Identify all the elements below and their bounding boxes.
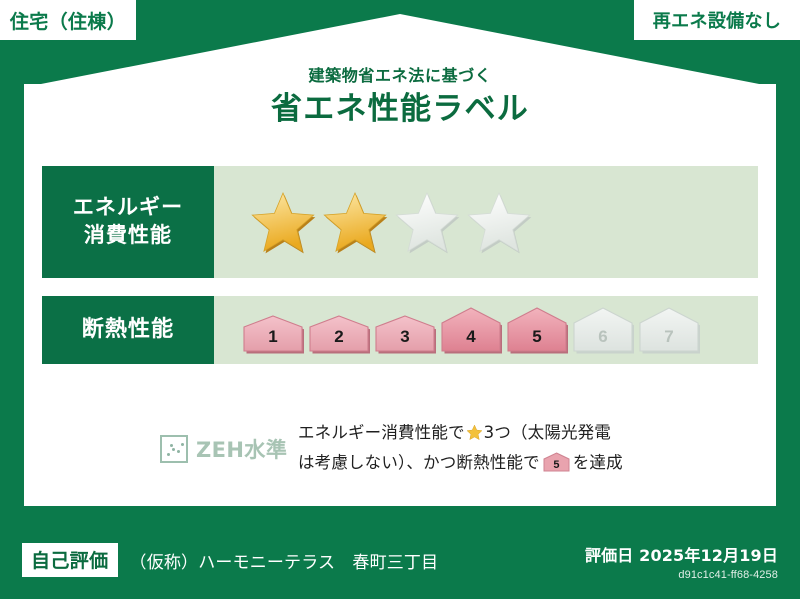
grade-scale: 1234567	[242, 306, 700, 354]
star-filled-icon	[322, 190, 388, 254]
grade-badge-6: 6	[572, 306, 634, 354]
star-empty-icon	[394, 190, 460, 254]
building-name: （仮称）ハーモニーテラス 春町三丁目	[130, 548, 439, 573]
grade-badge-4: 4	[440, 306, 502, 354]
zeh-mark: ZEH水準	[160, 420, 288, 464]
grade-value: 5	[506, 327, 568, 347]
energy-consumption-value	[214, 166, 758, 278]
zeh-desc-part2: は考慮しない）、かつ断熱性能で	[298, 453, 540, 472]
grade-badge-5: 5	[506, 306, 568, 354]
zeh-dots-icon	[160, 435, 188, 463]
zeh-desc-star-count: 3つ（太陽光発電	[484, 423, 611, 442]
grade-value: 2	[308, 327, 370, 347]
title-block: 建築物省エネ法に基づく 省エネ性能ラベル	[0, 66, 800, 128]
grade-value: 4	[440, 327, 502, 347]
title-subtitle: 建築物省エネ法に基づく	[0, 66, 800, 87]
grade-badge-3: 3	[374, 314, 436, 354]
grade-value: 1	[242, 327, 304, 347]
grade-value: 7	[638, 327, 700, 347]
footer: 自己評価 （仮称）ハーモニーテラス 春町三丁目 評価日 2025年12月19日 …	[0, 506, 800, 599]
evaluation-date: 評価日 2025年12月19日	[585, 542, 778, 566]
energy-consumption-row: エネルギー 消費性能	[42, 166, 758, 278]
energy-label-line2: 消費性能	[84, 222, 172, 250]
inline-grade-badge: 5	[543, 452, 570, 481]
evaluation-id: d91c1c41-ff68-4258	[585, 569, 778, 581]
evaluation-type-badge: 自己評価	[22, 543, 118, 577]
grade-value: 3	[374, 327, 436, 347]
footer-right: 評価日 2025年12月19日 d91c1c41-ff68-4258	[585, 542, 778, 581]
insulation-performance-value: 1234567	[214, 296, 758, 364]
star-filled-icon	[250, 190, 316, 254]
grade-value: 6	[572, 327, 634, 347]
star-empty-icon	[466, 190, 532, 254]
inline-star-icon	[466, 423, 483, 450]
zeh-desc-part1: エネルギー消費性能で	[298, 423, 465, 442]
badge-renewable-energy: 再エネ設備なし	[634, 0, 800, 40]
grade-badge-7: 7	[638, 306, 700, 354]
zeh-section: ZEH水準 エネルギー消費性能で3つ（太陽光発電 は考慮しない）、かつ断熱性能で…	[160, 420, 720, 480]
energy-performance-label: 住宅（住棟） 再エネ設備なし 建築物省エネ法に基づく 省エネ性能ラベル エネルギ…	[0, 0, 800, 599]
page-title: 省エネ性能ラベル	[0, 91, 800, 128]
svg-text:5: 5	[553, 459, 559, 471]
energy-consumption-label: エネルギー 消費性能	[42, 166, 214, 278]
insulation-performance-row: 断熱性能 1234567	[42, 296, 758, 364]
insulation-performance-label: 断熱性能	[42, 296, 214, 364]
zeh-desc-part3: を達成	[573, 453, 623, 472]
badge-building-type: 住宅（住棟）	[0, 0, 136, 40]
zeh-label: ZEH水準	[196, 434, 287, 464]
star-rating	[250, 190, 532, 254]
zeh-description: エネルギー消費性能で3つ（太陽光発電 は考慮しない）、かつ断熱性能で5を達成	[288, 420, 720, 480]
energy-label-line1: エネルギー	[73, 194, 183, 222]
footer-left: 自己評価 （仮称）ハーモニーテラス 春町三丁目	[22, 543, 438, 577]
grade-badge-2: 2	[308, 314, 370, 354]
grade-badge-1: 1	[242, 314, 304, 354]
